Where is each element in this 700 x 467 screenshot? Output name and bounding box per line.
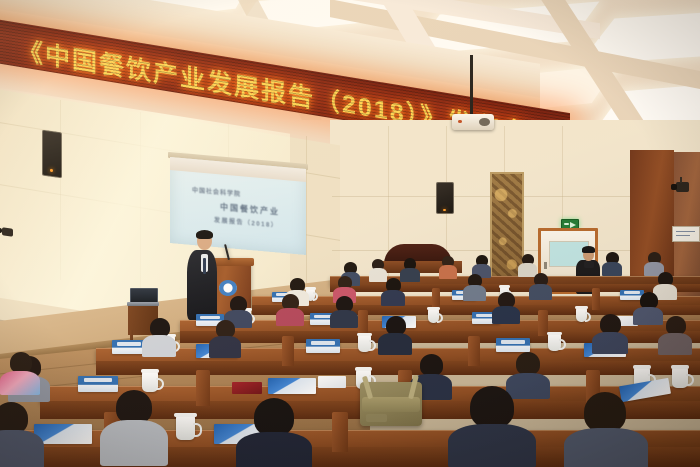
head bbox=[584, 392, 626, 432]
head bbox=[516, 352, 540, 375]
torso bbox=[236, 432, 312, 467]
torso bbox=[100, 420, 168, 466]
torso bbox=[381, 290, 405, 306]
desk-divider bbox=[468, 336, 480, 366]
head bbox=[254, 398, 294, 436]
projector-mount-pole bbox=[470, 55, 473, 117]
torso bbox=[439, 265, 457, 279]
torso bbox=[448, 424, 536, 467]
teacup-icon bbox=[428, 309, 439, 323]
torso bbox=[492, 306, 520, 324]
torso bbox=[330, 310, 358, 328]
torso bbox=[592, 332, 628, 354]
wall-speaker-icon bbox=[436, 182, 454, 214]
torso bbox=[209, 336, 241, 358]
podium-emblem-icon bbox=[219, 280, 237, 296]
papers[interactable] bbox=[318, 376, 346, 388]
room-sign-plaque bbox=[672, 226, 700, 242]
head bbox=[116, 390, 152, 424]
torso bbox=[378, 333, 412, 355]
torso bbox=[518, 263, 537, 277]
torso bbox=[0, 371, 40, 395]
screen-text-line-1: 中国社会科学院 bbox=[192, 185, 241, 198]
head bbox=[420, 354, 443, 376]
teacup-icon bbox=[672, 368, 688, 388]
messenger-bag bbox=[360, 382, 422, 426]
wall-seam bbox=[306, 136, 307, 296]
name-placard bbox=[112, 340, 146, 354]
torso bbox=[463, 285, 486, 301]
security-camera-icon bbox=[676, 182, 689, 192]
report-folder[interactable] bbox=[268, 378, 316, 394]
speaker-hair bbox=[196, 230, 213, 239]
torso bbox=[400, 268, 420, 282]
speaker-at-podium bbox=[186, 228, 220, 320]
teacup-icon bbox=[576, 308, 587, 322]
head bbox=[600, 314, 621, 334]
desk-divider bbox=[282, 336, 294, 366]
head bbox=[470, 386, 514, 428]
torso bbox=[658, 333, 692, 355]
teacup-icon bbox=[358, 335, 371, 352]
name-placard bbox=[306, 339, 340, 353]
wall-seam bbox=[332, 196, 632, 197]
projector-icon bbox=[452, 114, 494, 130]
notebook[interactable] bbox=[232, 382, 262, 394]
wall-speaker-icon bbox=[42, 130, 62, 179]
desk-divider bbox=[592, 288, 600, 310]
desk-divider bbox=[196, 370, 210, 406]
head bbox=[10, 352, 32, 373]
screen-text-line-3: 发展报告（2018） bbox=[214, 215, 278, 230]
security-camera-icon bbox=[2, 227, 13, 237]
desk-divider bbox=[332, 412, 348, 452]
laptop-icon[interactable] bbox=[130, 288, 156, 306]
torso bbox=[276, 308, 304, 326]
torso bbox=[633, 307, 663, 325]
torso bbox=[564, 428, 648, 467]
teacup-icon bbox=[142, 372, 158, 392]
photographer-cap bbox=[582, 246, 595, 253]
torso bbox=[529, 284, 552, 300]
teacup-icon bbox=[548, 334, 561, 351]
torso bbox=[602, 262, 622, 276]
photographer-camera-icon bbox=[584, 261, 594, 268]
torso bbox=[369, 268, 387, 282]
torso bbox=[506, 373, 550, 399]
speaker-tie bbox=[203, 258, 206, 274]
teacup-icon bbox=[176, 416, 195, 440]
name-placard bbox=[496, 338, 530, 352]
name-placard bbox=[78, 376, 118, 392]
torso bbox=[142, 335, 176, 357]
torso bbox=[0, 430, 44, 467]
conference-hall-photo: 《中国餐饮产业发展报告（2018）》发布会 bbox=[0, 0, 700, 467]
